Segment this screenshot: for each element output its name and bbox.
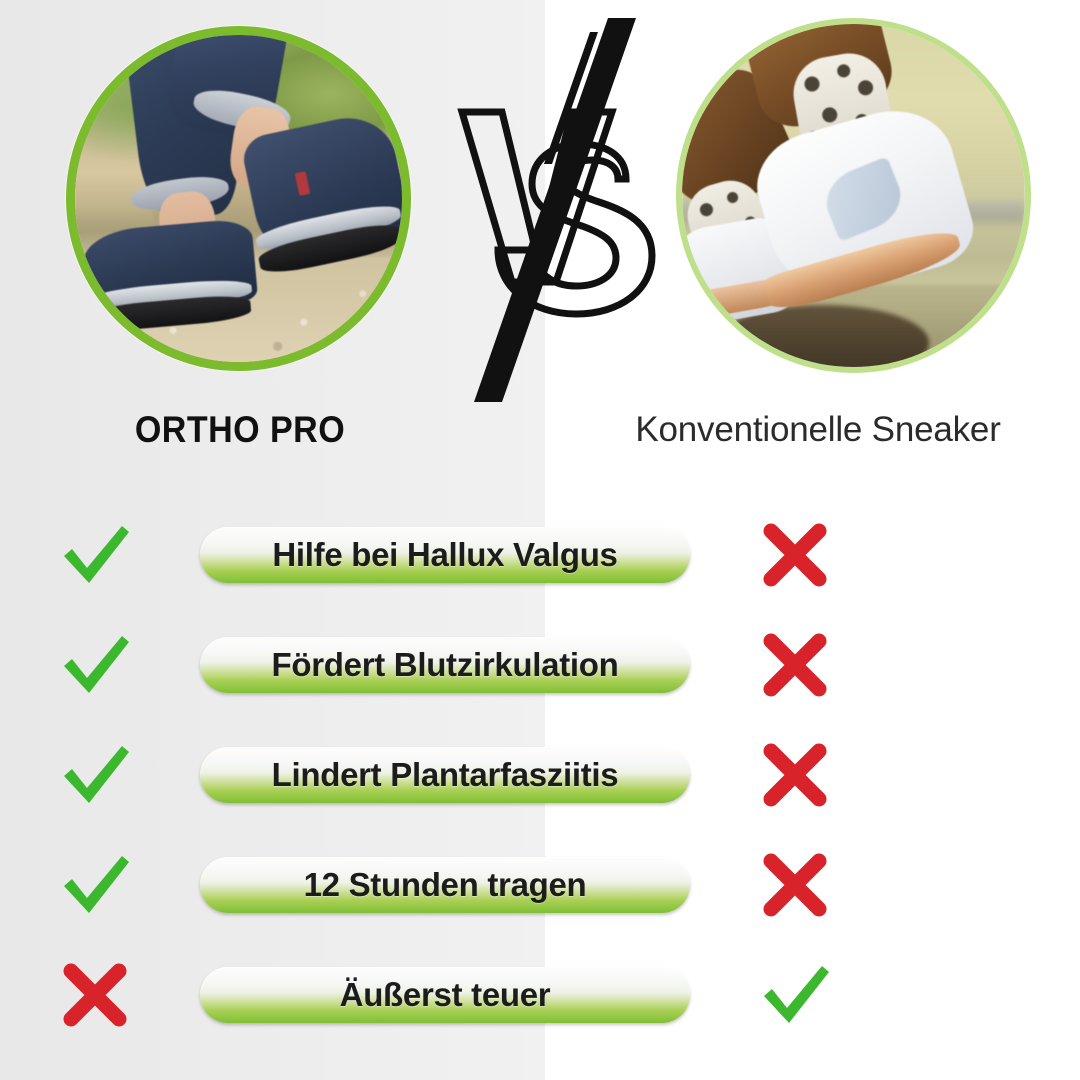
feature-row: Lindert Plantarfasziitis xyxy=(0,720,1080,830)
ortho-pro-check-icon xyxy=(0,630,190,700)
page-title-left: ORTHO PRO xyxy=(19,404,461,456)
feature-row: Äußerst teuer xyxy=(0,940,1080,1050)
feature-label: 12 Stunden tragen xyxy=(304,866,587,904)
white-sneaker-photo xyxy=(682,24,1025,367)
ortho-pro-check-icon xyxy=(0,850,190,920)
feature-comparison-list: Hilfe bei Hallux Valgus Fördert Blutzirk… xyxy=(0,500,1080,1050)
feature-badge: 12 Stunden tragen xyxy=(200,857,690,913)
cross-icon xyxy=(762,632,828,698)
page-title-right: Konventionelle Sneaker xyxy=(556,404,1080,456)
conventional-sneaker-cross-icon xyxy=(700,522,890,588)
navy-slip-on-shoe-photo xyxy=(75,35,402,362)
conventional-sneaker-cross-icon xyxy=(700,852,890,918)
versus-lightning-icon xyxy=(440,14,660,406)
ortho-pro-cross-icon xyxy=(0,962,190,1028)
feature-row: Hilfe bei Hallux Valgus xyxy=(0,500,1080,610)
feature-badge: Fördert Blutzirkulation xyxy=(200,637,690,693)
comparison-infographic: ORTHO PRO Konventionelle Sneaker Hilfe b… xyxy=(0,0,1080,1080)
ortho-pro-product-image xyxy=(66,26,411,371)
feature-badge: Lindert Plantarfasziitis xyxy=(200,747,690,803)
feature-row: 12 Stunden tragen xyxy=(0,830,1080,940)
feature-row: Fördert Blutzirkulation xyxy=(0,610,1080,720)
cross-icon xyxy=(762,852,828,918)
ortho-pro-check-icon xyxy=(0,740,190,810)
conventional-sneaker-product-image xyxy=(676,18,1031,373)
check-icon xyxy=(58,520,132,590)
feature-label: Hilfe bei Hallux Valgus xyxy=(272,536,617,574)
conventional-sneaker-cross-icon xyxy=(700,742,890,808)
conventional-sneaker-check-icon xyxy=(700,960,890,1030)
cross-icon xyxy=(762,522,828,588)
check-icon xyxy=(58,740,132,810)
conventional-sneaker-cross-icon xyxy=(700,632,890,698)
feature-badge: Äußerst teuer xyxy=(200,967,690,1023)
feature-badge: Hilfe bei Hallux Valgus xyxy=(200,527,690,583)
check-icon xyxy=(58,630,132,700)
feature-label: Fördert Blutzirkulation xyxy=(272,646,619,684)
cross-icon xyxy=(62,962,128,1028)
feature-label: Äußerst teuer xyxy=(340,976,551,1014)
cross-icon xyxy=(762,742,828,808)
ortho-pro-check-icon xyxy=(0,520,190,590)
check-icon xyxy=(58,850,132,920)
feature-label: Lindert Plantarfasziitis xyxy=(272,756,619,794)
check-icon xyxy=(758,960,832,1030)
